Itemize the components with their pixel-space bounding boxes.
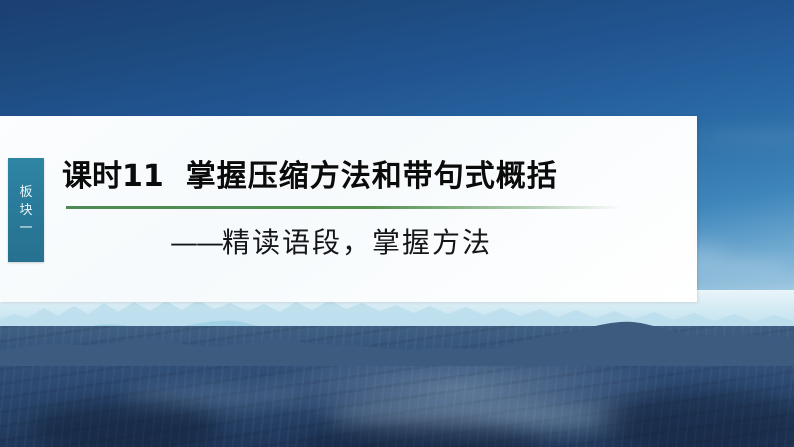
section-tab-char-1: 板	[19, 185, 32, 200]
section-tab-char-3: 一	[19, 221, 32, 236]
foreground-ridge-silhouette	[0, 318, 794, 366]
section-tab-banner[interactable]: 板 块 一	[8, 158, 44, 262]
slide-root: 板 块 一 课时11掌握压缩方法和带句式概括 ——精读语段，掌握方法	[0, 0, 794, 447]
mountain-landscape	[0, 290, 794, 447]
lesson-number-label: 课时11	[62, 159, 164, 194]
title-block: 课时11掌握压缩方法和带句式概括	[62, 155, 692, 199]
page-subtitle: ——精读语段，掌握方法	[170, 222, 492, 264]
subtitle-dash: ——	[170, 226, 222, 259]
content-panel	[0, 116, 697, 302]
cloud-wisp-icon	[690, 130, 794, 144]
section-tab-char-2: 块	[19, 203, 32, 218]
page-title-text: 掌握压缩方法和带句式概括	[186, 159, 558, 194]
subtitle-text: 精读语段，掌握方法	[222, 226, 492, 259]
mountain-shadow	[30, 400, 220, 447]
page-title: 课时11掌握压缩方法和带句式概括	[62, 155, 692, 199]
title-underline-rule	[66, 206, 622, 209]
